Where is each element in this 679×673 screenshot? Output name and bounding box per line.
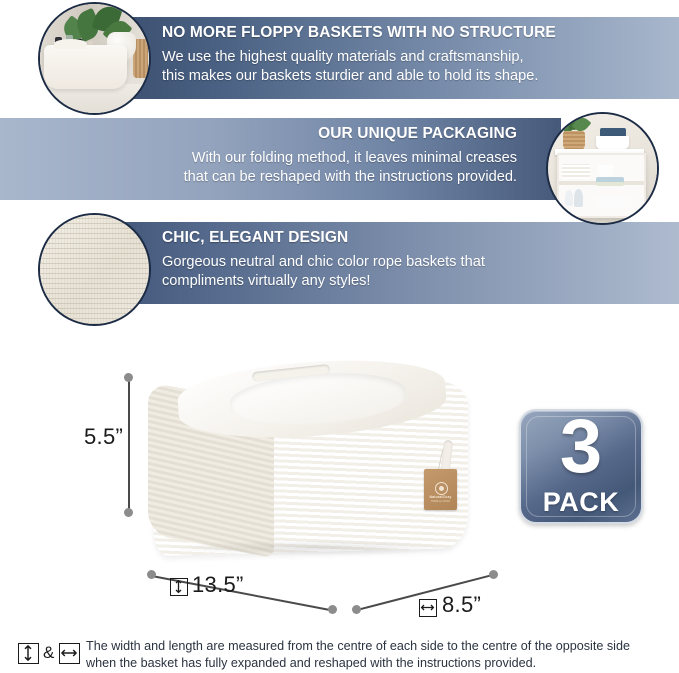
banner-body-line-2: this makes our baskets sturdier and able…	[162, 67, 538, 86]
banner-body-line-1: With our folding method, it leaves minim…	[184, 149, 517, 168]
feature-banner-chic-design: CHIC, ELEGANT DESIGN Gorgeous neutral an…	[118, 222, 679, 304]
horizontal-arrow-box-icon	[59, 643, 80, 664]
banner-body-line-1: We use the highest quality materials and…	[162, 48, 538, 67]
depth-dimension-endpoint	[352, 605, 361, 614]
feature-banner-no-structure: NO MORE FLOPPY BASKETS WITH NO STRUCTURE…	[118, 17, 679, 99]
width-dimension-label: 13.5”	[192, 572, 244, 598]
banner-body-chic-design: Gorgeous neutral and chic color rope bas…	[162, 253, 485, 292]
depth-dimension-label: 8.5”	[442, 592, 481, 618]
white-rope-basket	[44, 45, 127, 89]
height-dimension-line	[128, 380, 130, 512]
photo-background	[40, 4, 149, 113]
depth-dimension-endpoint	[489, 570, 498, 579]
tag-card: NaturalCozy HOME & LIVING	[424, 469, 457, 510]
pack-count-word: PACK	[521, 489, 641, 516]
pack-count-number: 3	[521, 409, 641, 485]
banner-body-line-2: compliments virtually any styles!	[162, 272, 485, 291]
white-tray	[594, 197, 631, 208]
feature-photo-basket-with-plants	[38, 2, 151, 115]
banner-body-line-2: that can be reshaped with the instructio…	[184, 168, 517, 187]
vertical-arrow-box-icon	[18, 643, 39, 664]
banner-title-no-structure: NO MORE FLOPPY BASKETS WITH NO STRUCTURE	[162, 25, 556, 41]
footnote-text: The width and length are measured from t…	[86, 638, 668, 673]
feature-photo-white-shelf	[546, 112, 659, 225]
footnote-line-1: The width and length are measured from t…	[86, 638, 668, 655]
tag-tagline: HOME & LIVING	[424, 500, 457, 503]
feature-photo-rope-texture	[38, 213, 151, 326]
vertical-arrow-box-icon	[170, 578, 188, 596]
feature-banner-unique-packaging: OUR UNIQUE PACKAGING With our folding me…	[0, 118, 561, 200]
tag-brand-name: NaturalCozy	[424, 495, 457, 499]
width-dimension-endpoint	[328, 605, 337, 614]
brand-logo-icon	[435, 482, 448, 495]
ceramic-vase	[574, 189, 583, 206]
product-hang-tag: NaturalCozy HOME & LIVING	[424, 463, 457, 510]
footnote-separator: &	[43, 643, 54, 663]
rope-texture-swatch	[40, 215, 149, 324]
footnote-icon-group: &	[18, 640, 80, 666]
banner-body-unique-packaging: With our folding method, it leaves minim…	[184, 149, 517, 188]
pack-count-badge: 3 PACK	[519, 409, 643, 524]
height-dimension-endpoint	[124, 508, 133, 517]
horizontal-arrow-box-icon	[419, 599, 437, 617]
product-basket-photo	[148, 358, 473, 554]
height-dimension-endpoint	[124, 373, 133, 382]
photo-background	[548, 114, 657, 223]
banner-body-line-1: Gorgeous neutral and chic color rope bas…	[162, 253, 485, 272]
banner-title-chic-design: CHIC, ELEGANT DESIGN	[162, 230, 348, 246]
basket-shadow	[168, 540, 460, 556]
measurement-footnote: & The width and length are measured from…	[18, 638, 668, 672]
banner-title-unique-packaging: OUR UNIQUE PACKAGING	[318, 126, 517, 142]
folded-towel	[596, 182, 624, 186]
footnote-line-2: when the basket has fully expanded and r…	[86, 655, 668, 672]
ceramic-vase	[565, 190, 573, 205]
white-rope-basket	[562, 164, 590, 179]
width-dimension-endpoint	[147, 570, 156, 579]
banner-body-no-structure: We use the highest quality materials and…	[162, 48, 538, 87]
height-dimension-label: 5.5”	[84, 424, 123, 450]
